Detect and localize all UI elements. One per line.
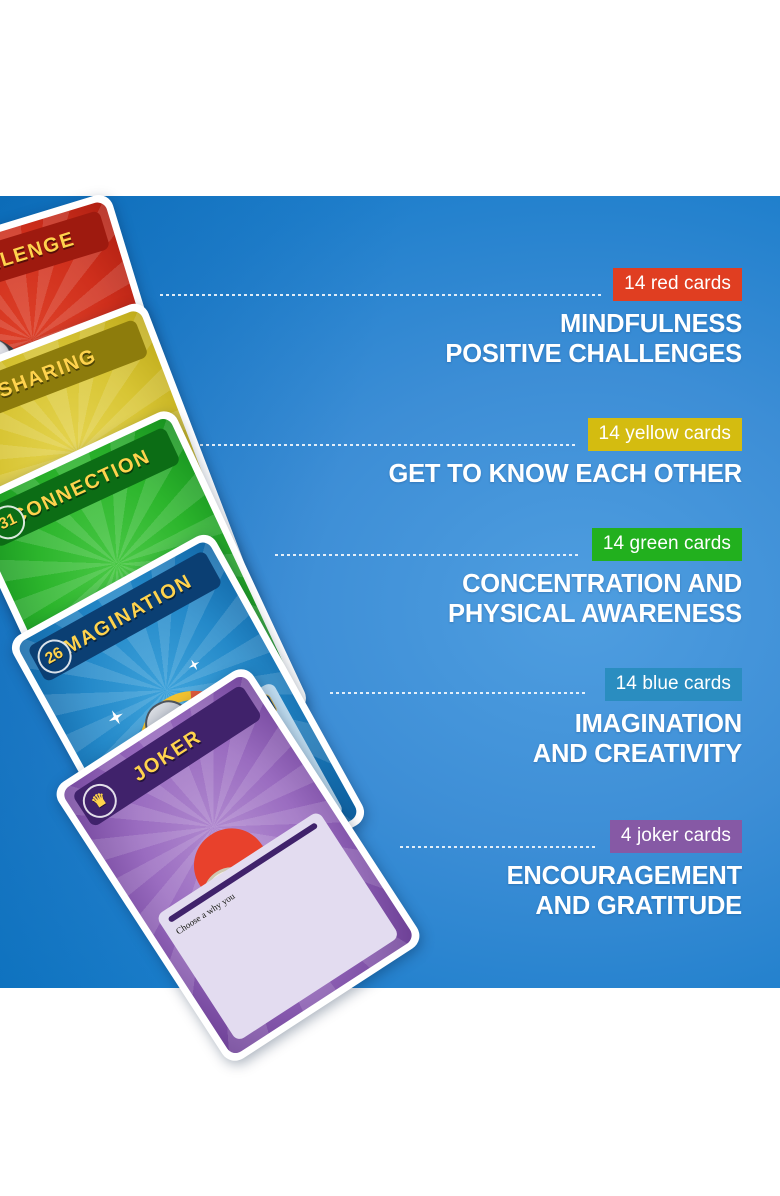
category-blue: 14 blue cards IMAGINATION AND CREATIVITY: [533, 668, 742, 770]
badge-red-cards: 14 red cards: [613, 268, 742, 301]
category-yellow: 14 yellow cards GET TO KNOW EACH OTHER: [388, 418, 742, 490]
product-feature-image: 14 red cards MINDFULNESS POSITIVE CHALLE…: [0, 0, 780, 1196]
headline-concentration: CONCENTRATION AND PHYSICAL AWARENESS: [448, 570, 742, 630]
badge-joker-cards: 4 joker cards: [610, 820, 742, 853]
category-green: 14 green cards CONCENTRATION AND PHYSICA…: [448, 528, 742, 630]
headline-encouragement: ENCOURAGEMENT AND GRATITUDE: [507, 862, 742, 922]
category-joker: 4 joker cards ENCOURAGEMENT AND GRATITUD…: [507, 820, 742, 922]
badge-yellow-cards: 14 yellow cards: [588, 418, 742, 451]
badge-green-cards: 14 green cards: [592, 528, 742, 561]
headline-mindfulness: MINDFULNESS POSITIVE CHALLENGES: [445, 310, 742, 370]
category-red: 14 red cards MINDFULNESS POSITIVE CHALLE…: [445, 268, 742, 370]
badge-blue-cards: 14 blue cards: [605, 668, 742, 701]
headline-imagination: IMAGINATION AND CREATIVITY: [533, 710, 742, 770]
headline-get-to-know: GET TO KNOW EACH OTHER: [388, 460, 742, 490]
